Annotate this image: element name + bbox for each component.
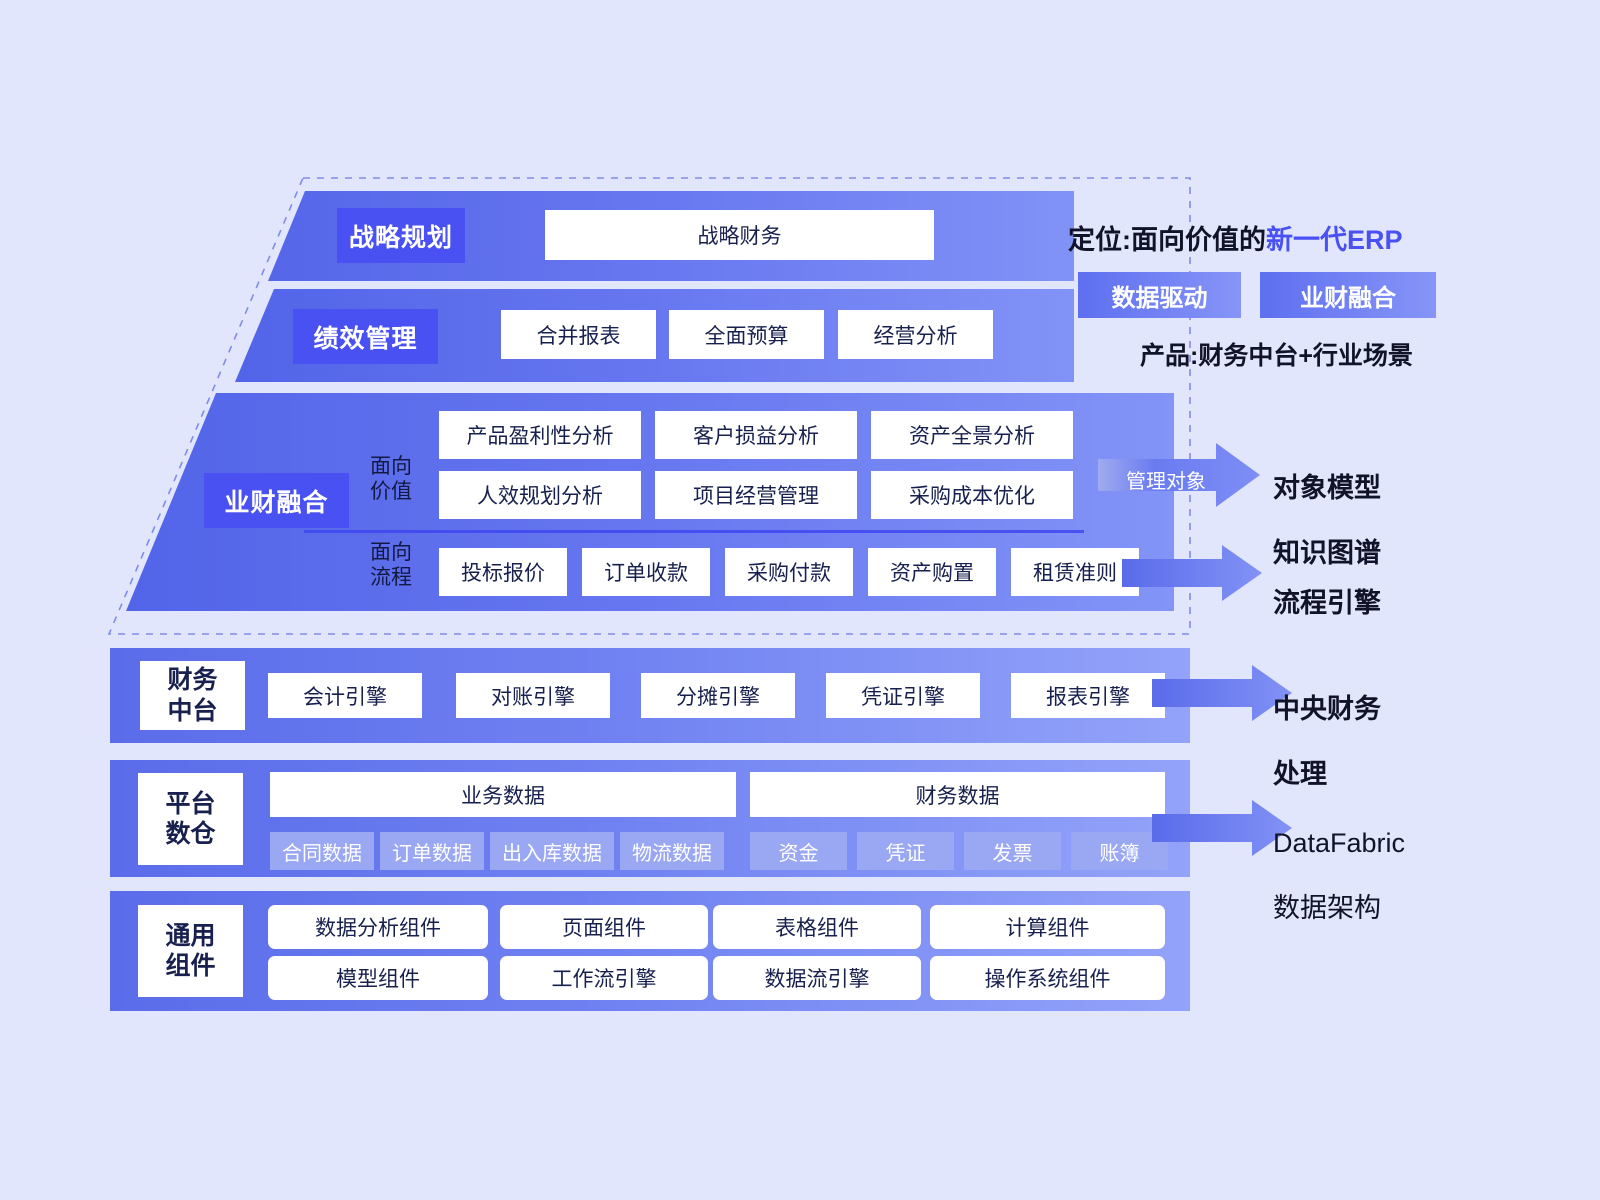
tier2-item-0[interactable]: 合并报表 [501,310,656,359]
callout-text-3-line2: 数据架构 [1273,892,1405,924]
callout-text-0-line1: 对象模型 [1273,472,1381,504]
callout-text-3: DataFabric 数据架构 [1273,795,1405,957]
row-label-data-warehouse: 平台 数仓 [138,773,243,865]
tier3-group-0-label: 面向 价值 [360,455,422,505]
callout-arrow-2 [1152,665,1292,721]
pyramid-tier-2: 绩效管理 合并报表 全面预算 经营分析 [235,289,1074,382]
callout-text-1: 流程引擎 [1273,555,1381,652]
row-label-line2: 组件 [165,951,215,982]
row-label-line1: 平台 [165,789,215,820]
dw-tag-right-0[interactable]: 资金 [750,832,847,870]
callout-text-2-line1: 中央财务 [1273,693,1381,725]
finance-cell-2[interactable]: 分摊引擎 [641,673,795,718]
tier3-g0-r0-c0[interactable]: 产品盈利性分析 [439,411,641,459]
page-title-accent: 新一代ERP [1266,225,1403,255]
diagram-canvas: 战略规划 战略财务 绩效管理 合并报表 全面预算 经营分析 [0,0,1600,1200]
tier3-group-divider [304,530,1084,533]
cc-r0-c3[interactable]: 计算组件 [930,905,1165,949]
row-label-line1: 财务 [167,665,217,696]
badge-1[interactable]: 业财融合 [1260,272,1436,318]
tier3-g0-r1-c0[interactable]: 人效规划分析 [439,471,641,519]
cc-r1-c3[interactable]: 操作系统组件 [930,956,1165,1000]
tier1-item-0[interactable]: 战略财务 [545,210,934,260]
row-label-line2: 中台 [167,696,217,727]
tier2-item-2[interactable]: 经营分析 [838,310,993,359]
dw-tag-right-2[interactable]: 发票 [964,832,1061,870]
dw-tag-left-2[interactable]: 出入库数据 [490,832,614,870]
tier3-g0-r0-c2[interactable]: 资产全景分析 [871,411,1073,459]
platform-row-data-warehouse: 平台 数仓 业务数据 财务数据 合同数据 订单数据 出入库数据 物流数据 资金 … [110,760,1190,877]
cc-r0-c2[interactable]: 表格组件 [713,905,921,949]
callout-text-2-line2: 处理 [1273,758,1381,790]
finance-cell-4[interactable]: 报表引擎 [1011,673,1165,718]
row-label-common-components: 通用 组件 [138,905,243,997]
callout-arrow-1 [1122,545,1262,601]
dw-tag-right-1[interactable]: 凭证 [857,832,954,870]
tier3-g1-r0-c1[interactable]: 订单收款 [582,548,710,596]
row-label-finance-midend: 财务 中台 [140,661,245,730]
callout-text-1-line1: 流程引擎 [1273,587,1381,619]
platform-row-common-components: 通用 组件 数据分析组件 页面组件 表格组件 计算组件 模型组件 工作流引擎 数… [110,891,1190,1011]
page-title-prefix: 定位:面向价值的 [1068,225,1266,255]
tier3-group-1-label: 面向 流程 [360,541,422,591]
pyramid-tier-3: 业财融合 面向 价值 产品盈利性分析 客户损益分析 资产全景分析 人效规划分析 … [126,393,1174,611]
tier2-label: 绩效管理 [293,309,438,364]
dw-tag-left-0[interactable]: 合同数据 [270,832,374,870]
tier3-group-0-label-line1: 面向 [360,455,422,480]
cc-r0-c1[interactable]: 页面组件 [500,905,708,949]
tier2-item-1[interactable]: 全面预算 [669,310,824,359]
pyramid-tier-1: 战略规划 战略财务 [268,191,1074,281]
dw-wide-cell-1[interactable]: 财务数据 [750,772,1165,817]
cc-r1-c2[interactable]: 数据流引擎 [713,956,921,1000]
tier3-g0-r0-c1[interactable]: 客户损益分析 [655,411,857,459]
tier3-g1-r0-c2[interactable]: 采购付款 [725,548,853,596]
row-label-line2: 数仓 [165,819,215,850]
callout-text-3-line1: DataFabric [1273,827,1405,859]
tier3-g0-r1-c1[interactable]: 项目经营管理 [655,471,857,519]
tier3-g0-r1-c2[interactable]: 采购成本优化 [871,471,1073,519]
dw-tag-left-1[interactable]: 订单数据 [380,832,484,870]
tier1-label: 战略规划 [337,208,465,263]
finance-cell-1[interactable]: 对账引擎 [456,673,610,718]
callout-arrow-3 [1152,800,1292,856]
page-subtitle: 产品:财务中台+行业场景 [1140,336,1413,372]
dw-wide-cell-0[interactable]: 业务数据 [270,772,736,817]
tier3-group-1-label-line1: 面向 [360,541,422,566]
tier3-group-0-label-line2: 价值 [360,480,422,505]
finance-cell-0[interactable]: 会计引擎 [268,673,422,718]
finance-cell-3[interactable]: 凭证引擎 [826,673,980,718]
cc-r0-c0[interactable]: 数据分析组件 [268,905,488,949]
callout-arrow-label-0: 管理对象 [1126,465,1206,494]
tier3-label: 业财融合 [204,473,349,528]
page-title: 定位:面向价值的新一代ERP [1068,218,1403,257]
tier3-g1-r0-c3[interactable]: 资产购置 [868,548,996,596]
dw-tag-left-3[interactable]: 物流数据 [620,832,724,870]
cc-r1-c1[interactable]: 工作流引擎 [500,956,708,1000]
badge-0[interactable]: 数据驱动 [1078,272,1241,318]
tier3-group-1-label-line2: 流程 [360,566,422,591]
tier3-g1-r0-c0[interactable]: 投标报价 [439,548,567,596]
platform-row-finance-midend: 财务 中台 会计引擎 对账引擎 分摊引擎 凭证引擎 报表引擎 [110,648,1190,743]
cc-r1-c0[interactable]: 模型组件 [268,956,488,1000]
row-label-line1: 通用 [165,921,215,952]
tier3-g1-r0-c4[interactable]: 租赁准则 [1011,548,1139,596]
